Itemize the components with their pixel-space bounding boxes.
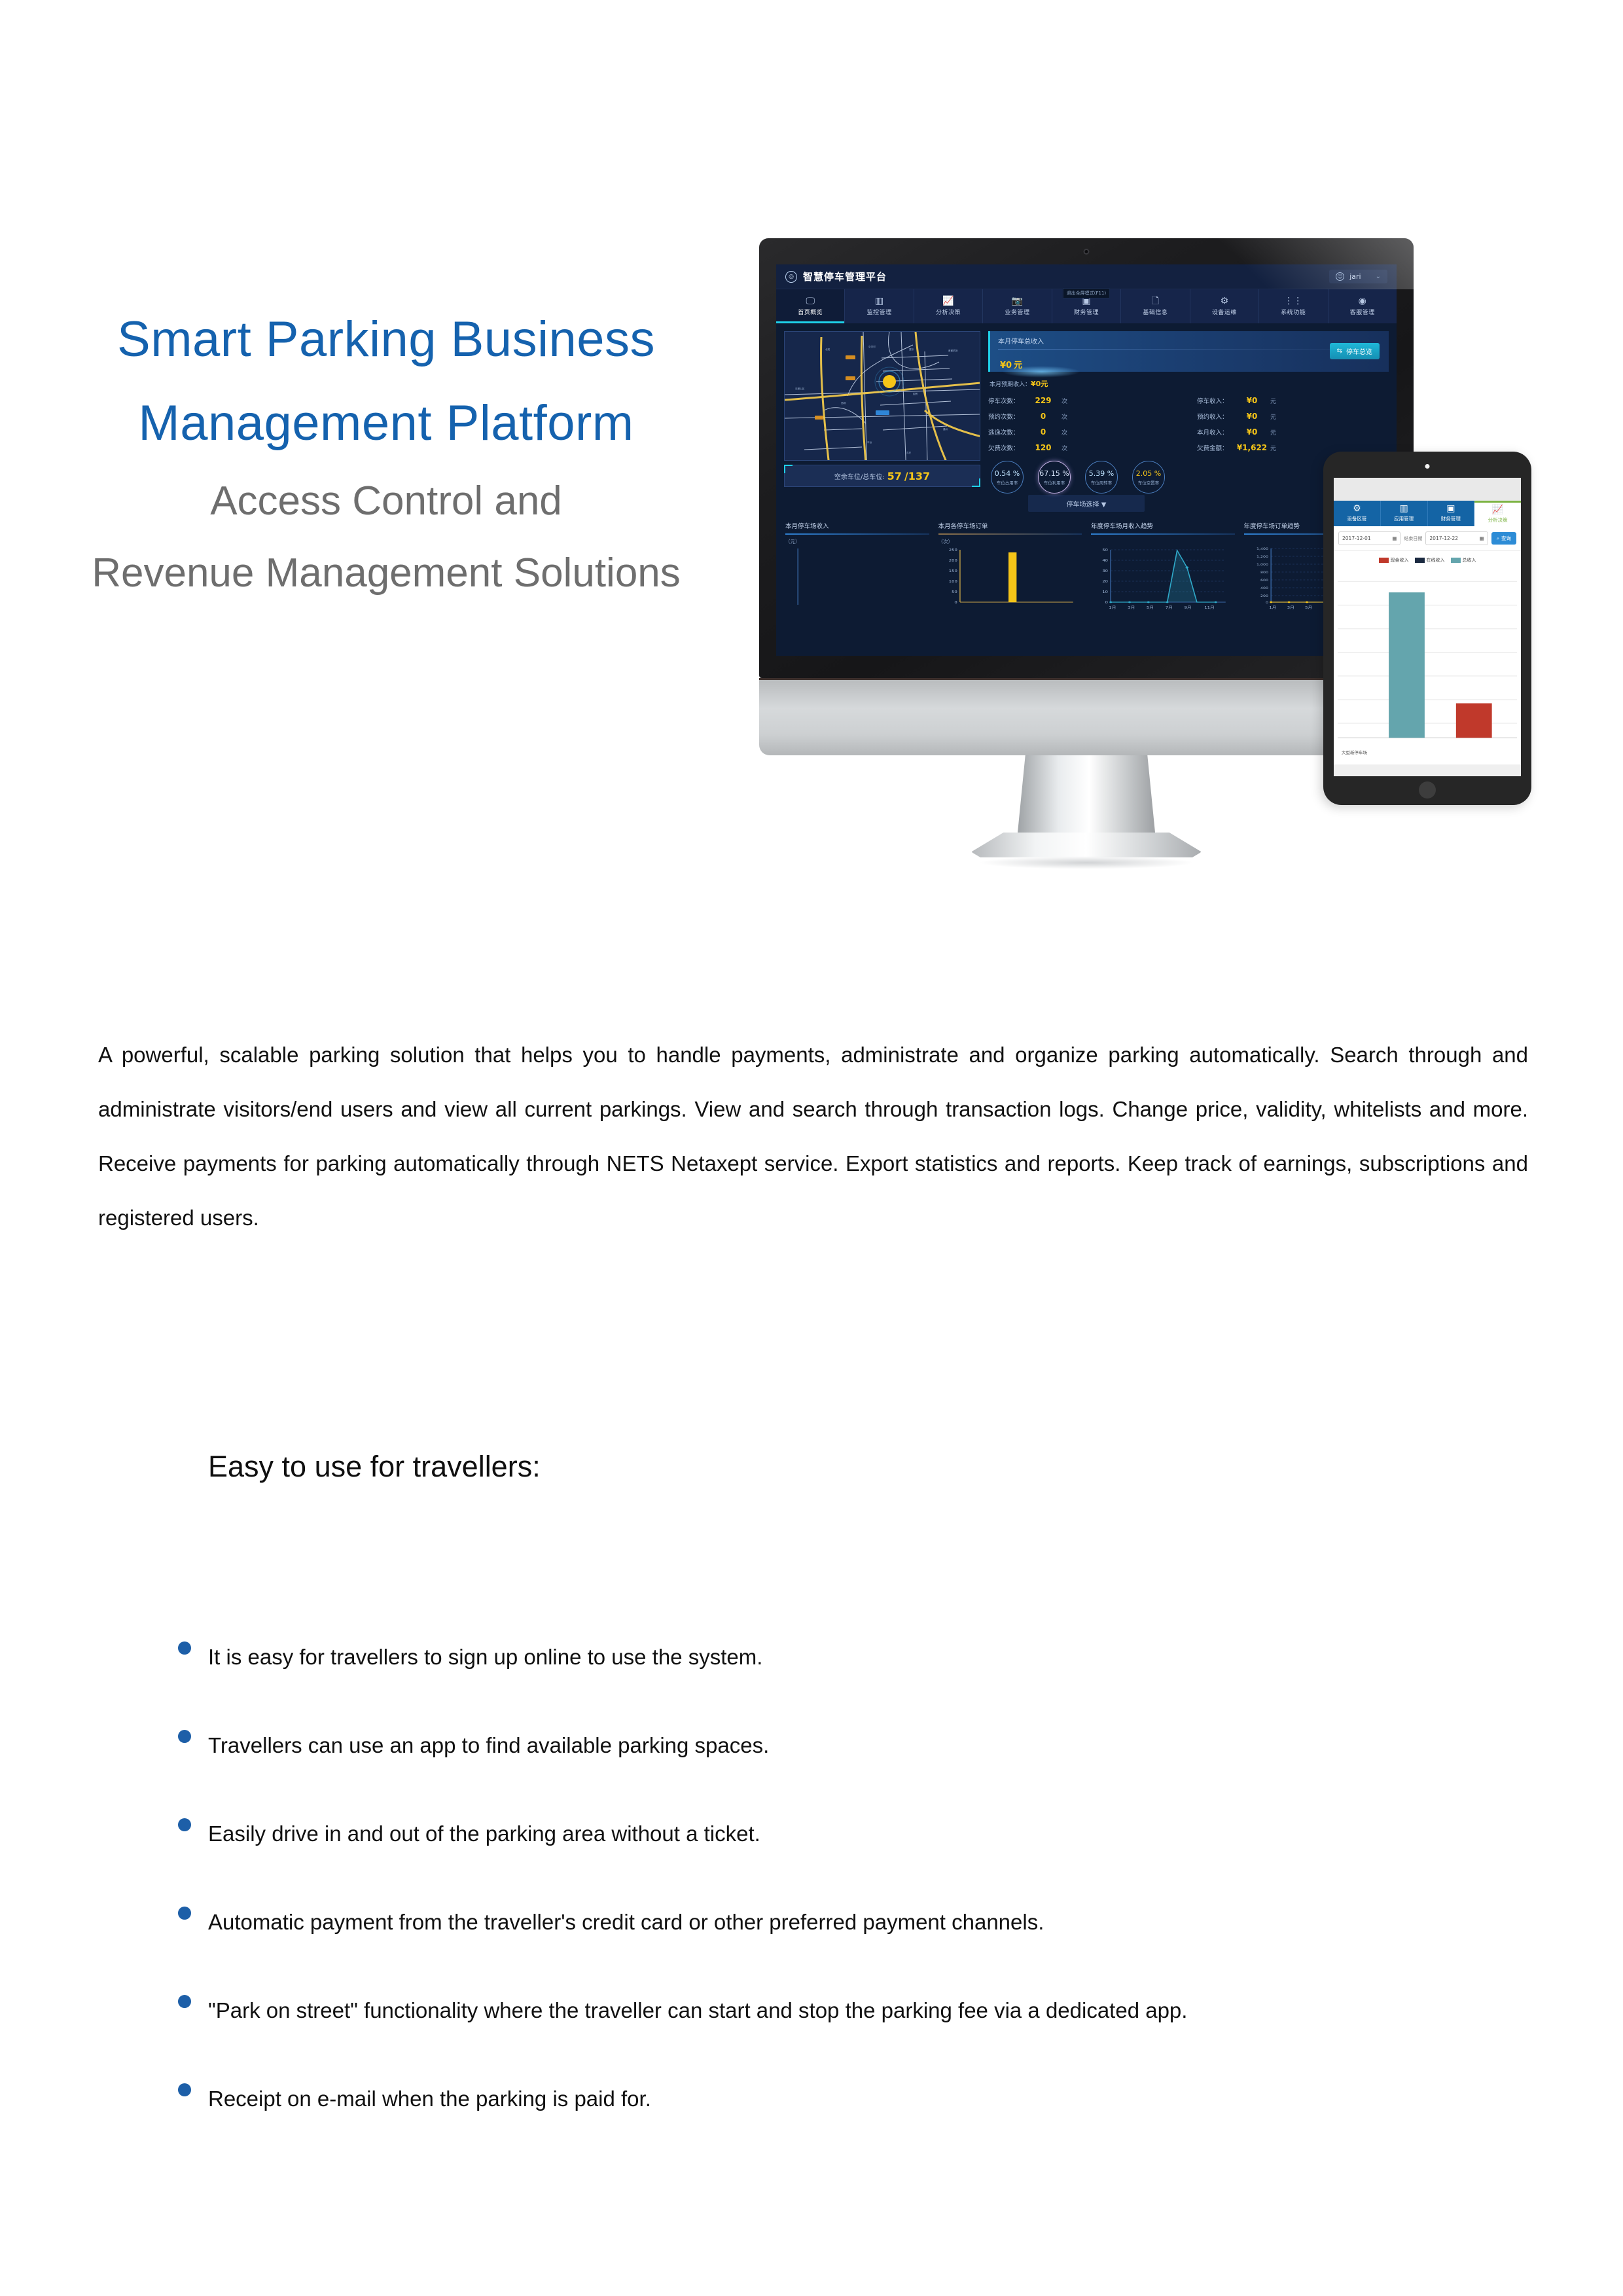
nav-item-monitoring[interactable]: ▥ 监控管理 [845,289,914,323]
tablet-tab-device[interactable]: ⚙ 设备区管 [1334,501,1381,527]
stat-unit: 次 [1061,428,1067,437]
stat-value: 0 [1025,427,1061,437]
svg-text:3月: 3月 [1128,606,1135,610]
list-item: Easily drive in and out of the parking a… [165,1806,1487,1861]
tablet-frame: ⚙ 设备区管 ▥ 应用管理 ▣ 财务管理 📈 分析决策 [1323,452,1531,805]
tab-label: 应用管理 [1394,515,1414,522]
svg-text:西城: 西城 [841,401,846,404]
svg-text:1,200: 1,200 [1256,556,1268,559]
svg-text:50: 50 [1102,548,1108,552]
date-to-input[interactable]: 2017-12-22 ▦ [1425,531,1488,545]
bullet-dot-icon [178,2083,191,2096]
nav-item-business[interactable]: 📷 业务管理 [983,289,1052,323]
stat-row: 本月收入： ¥0 元 [1197,425,1389,439]
search-icon: ⌕ [1497,535,1499,542]
tablet-tab-analysis[interactable]: 📈 分析决策 [1474,501,1521,527]
gauge-value: 2.05 % [1136,469,1161,478]
svg-text:3月: 3月 [1287,606,1294,610]
chart-title: 本月各停车场订单 [938,521,1082,530]
gauge-utilization: 67.15 % 车位利用率 [1038,461,1071,493]
svg-text:首都机场: 首都机场 [948,349,958,352]
svg-text:600: 600 [1260,579,1269,583]
stat-unit: 次 [1061,444,1067,452]
stat-value: 229 [1025,396,1061,405]
dashboard-body: 北苑中关村 望京首都机场 石景山区西城 国贸通州 丰台亦庄 空余车位/总车位: … [776,323,1397,495]
tablet-tab-bar: ⚙ 设备区管 ▥ 应用管理 ▣ 财务管理 📈 分析决策 [1334,501,1521,527]
legend-swatch [1379,558,1389,563]
bullet-dot-icon [178,1641,191,1655]
date-to-value: 2017-12-22 [1429,535,1458,541]
nav-label: 首页概览 [798,308,823,316]
stat-key: 本月收入： [1197,427,1234,437]
stat-key: 预约次数： [988,412,1025,421]
tablet-tab-finance[interactable]: ▣ 财务管理 [1428,501,1475,527]
stat-unit: 元 [1270,444,1276,452]
page-title-line1: Smart Parking Business [52,298,720,382]
trend-icon: 📈 [1492,505,1503,514]
svg-text:20: 20 [1102,580,1108,584]
lot-selector-dropdown[interactable]: 停车场选择 ▼ [1028,495,1145,512]
gauge-label: 车位空置率 [1138,479,1160,486]
monitor-bezel: ◎ 智慧停车管理平台 ☺ jari ⌄ 🖵 首页概览 ▥ [759,238,1414,678]
gauge-vacancy: 2.05 % 车位空置率 [1132,461,1165,493]
svg-text:中关村: 中关村 [868,345,876,348]
legend-item[interactable]: 在线收入 [1415,557,1445,564]
svg-text:1,400: 1,400 [1256,548,1268,551]
date-from-value: 2017-12-01 [1342,535,1371,541]
svg-text:250: 250 [948,548,957,552]
chart-monthly-revenue: 本月停车场收入 （元） [785,521,929,613]
gauge-turnover: 5.39 % 车位周转率 [1085,461,1118,493]
stat-value: ¥0 [1234,412,1270,421]
monitor-camera-icon [1084,249,1090,255]
gauge-label: 车位利用率 [1044,479,1065,486]
monitor-stand-base [971,833,1202,857]
list-item-text: Automatic payment from the traveller's c… [208,1895,1487,1949]
list-item: Automatic payment from the traveller's c… [165,1895,1487,1949]
nav-item-analysis[interactable]: 📈 分析决策 [914,289,983,323]
bullet-dot-icon [178,1730,191,1743]
svg-text:5月: 5月 [1305,606,1312,610]
glow-decoration [1002,366,1080,378]
chart-legend: 现金收入 在线收入 总收入 [1334,551,1521,566]
calendar-icon[interactable]: ▦ [1480,535,1484,541]
stat-value: 0 [1025,412,1061,421]
gauge-occupancy: 0.54 % 车位占用率 [991,461,1024,493]
chevron-down-icon[interactable]: ⌄ [1376,273,1381,280]
svg-text:0: 0 [1266,601,1269,605]
wallet-icon: ▣ [1446,504,1455,513]
date-separator-label: 结束日期 [1404,535,1422,542]
gear-icon: ⚙ [1221,296,1229,306]
stat-value: ¥0 [1234,396,1270,405]
tablet-bar-chart: 大型新停车场 [1334,566,1521,764]
search-button[interactable]: ⌕ 查询 [1491,532,1516,545]
stat-row: 停车收入： ¥0 元 [1197,393,1389,408]
nav-label: 客服管理 [1350,308,1375,316]
svg-text:100: 100 [948,580,957,584]
svg-text:40: 40 [1102,559,1108,563]
list-item: "Park on street" functionality where the… [165,1983,1487,2037]
svg-text:10: 10 [1102,590,1108,594]
nav-label: 监控管理 [867,308,892,316]
chart-x-label: 大型新停车场 [1342,749,1367,755]
nav-label: 基础信息 [1143,308,1168,316]
svg-text:1,000: 1,000 [1256,564,1268,567]
stat-row: 停车次数： 229 次 [988,393,1180,408]
dashboard-nav: 🖵 首页概览 ▥ 监控管理 📈 分析决策 📷 业务管理 [776,289,1397,323]
tablet-camera-icon [1425,464,1430,469]
fullscreen-tooltip: 退出全屏模式(F11) [1063,288,1110,298]
trend-icon: 📈 [942,296,954,306]
section-heading: Easy to use for travellers: [208,1450,541,1484]
svg-text:1月: 1月 [1109,606,1116,610]
svg-text:800: 800 [1260,571,1269,575]
legend-label: 在线收入 [1427,557,1445,564]
tablet-tab-application[interactable]: ▥ 应用管理 [1381,501,1428,527]
parking-overview-button[interactable]: ⇆ 停车总览 [1330,343,1380,359]
stat-value: ¥1,622 [1234,443,1270,452]
svg-text:石景山区: 石景山区 [795,387,805,390]
stat-unit: 元 [1270,397,1276,405]
tablet-screen: ⚙ 设备区管 ▥ 应用管理 ▣ 财务管理 📈 分析决策 [1334,478,1521,776]
svg-text:亦庄: 亦庄 [906,451,912,454]
user-name: jari [1349,272,1361,281]
expected-value: ¥0元 [1031,380,1048,388]
nav-label: 系统功能 [1281,308,1306,316]
gauge-label: 车位占用率 [997,479,1018,486]
svg-text:200: 200 [948,559,957,563]
svg-text:30: 30 [1102,569,1108,573]
nav-item-basic-info[interactable]: 🗋 基础信息 [1121,289,1190,323]
app-logo-icon: ◎ [785,271,797,283]
svg-text:9月: 9月 [1185,606,1192,610]
title-block: Smart Parking Business Management Platfo… [52,298,720,609]
bullet-dot-icon [178,1818,191,1831]
gauge-value: 67.15 % [1039,469,1069,478]
map-column: 北苑中关村 望京首都机场 石景山区西城 国贸通州 丰台亦庄 空余车位/总车位: … [784,331,980,487]
map-graphic: 北苑中关村 望京首都机场 石景山区西城 国贸通州 丰台亦庄 [785,332,980,461]
dashboard-screen: ◎ 智慧停车管理平台 ☺ jari ⌄ 🖵 首页概览 ▥ [776,264,1397,656]
page-subtitle-line1: Access Control and [52,465,720,537]
revenue-banner: 本月停车总收入 ¥0元 ⇆ 停车总览 [988,331,1389,372]
nav-item-finance[interactable]: 退出全屏模式(F11) ▣ 财务管理 [1052,289,1121,323]
nav-label: 财务管理 [1074,308,1099,316]
dashboard-charts: 本月停车场收入 （元） 本月各停车场订单 （次） [776,512,1397,613]
list-item: It is easy for travellers to sign up onl… [165,1630,1487,1684]
nav-item-system[interactable]: ⋮⋮ 系统功能 [1259,289,1328,323]
stats-grid: 停车次数： 229 次 停车收入： ¥0 元 预约次数： [988,393,1389,455]
stat-unit: 次 [1061,397,1067,405]
list-item: Travellers can use an app to find availa… [165,1718,1487,1772]
bar-chart-icon: ▥ [875,296,883,306]
svg-text:通州: 通州 [943,427,948,431]
nav-label: 业务管理 [1005,308,1030,316]
chart-yearly-revenue-trend: 年度停车场月收入趋势 [1091,521,1235,613]
monitor-chin [759,678,1414,755]
bar-chart-icon: ▥ [1400,504,1408,513]
stat-row: 预约次数： 0 次 [988,409,1180,423]
chart-svg: 250200 150100 500 [938,539,1082,613]
svg-text:北苑: 北苑 [825,348,830,351]
gear-icon: ⚙ [1353,504,1361,513]
city-map[interactable]: 北苑中关村 望京首都机场 石景山区西城 国贸通州 丰台亦庄 [784,331,980,461]
intro-paragraph: A powerful, scalable parking solution th… [98,1028,1528,1245]
stat-row: 欠费次数： 120 次 [988,440,1180,455]
swap-icon: ⇆ [1337,348,1342,355]
revenue-label: 本月停车总收入 [998,336,1381,346]
svg-text:望京: 望京 [909,348,914,351]
parking-spaces-summary: 空余车位/总车位: 57 /137 [784,465,980,487]
calendar-icon[interactable]: ▦ [1392,535,1397,541]
monitor-stand-neck [1017,755,1156,839]
divider [785,533,929,535]
date-from-input[interactable]: 2017-12-01 ▦ [1338,531,1400,545]
spaces-label: 空余车位/总车位: [834,471,885,481]
stat-unit: 元 [1270,412,1276,421]
hero-section: Smart Parking Business Management Platfo… [0,0,1623,890]
svg-text:丰台: 丰台 [867,440,872,444]
page-subtitle-line2: Revenue Management Solutions [52,537,720,609]
stat-value: ¥0 [1234,427,1270,437]
legend-swatch [1415,558,1425,563]
stat-key: 停车收入： [1197,396,1234,405]
tab-label: 财务管理 [1441,515,1461,522]
stat-row: 预约收入： ¥0 元 [1197,409,1389,423]
legend-label: 现金收入 [1391,557,1409,564]
dashboard-header: ◎ 智慧停车管理平台 ☺ jari ⌄ [776,264,1397,289]
gauge-label: 车位周转率 [1091,479,1113,486]
stat-key: 欠费次数： [988,443,1025,452]
svg-text:0: 0 [954,601,957,605]
legend-swatch [1451,558,1461,563]
stat-key: 停车次数： [988,396,1025,405]
chart-title: 年度停车场月收入趋势 [1091,521,1235,530]
chart-plot: （次） 250200 150100 500 [938,539,1082,613]
svg-text:国贸: 国贸 [913,392,918,395]
tablet-mockup: ⚙ 设备区管 ▥ 应用管理 ▣ 财务管理 📈 分析决策 [1323,452,1531,805]
desktop-monitor-mockup: ◎ 智慧停车管理平台 ☺ jari ⌄ 🖵 首页概览 ▥ [759,238,1414,723]
app-title: 智慧停车管理平台 [803,270,887,283]
stat-value: 120 [1025,443,1061,452]
chart-plot: 5040 3020 100 [1091,539,1235,613]
spaces-total-value: /137 [904,470,930,482]
divider [938,533,1082,535]
nav-label: 设备运维 [1212,308,1237,316]
svg-text:0: 0 [1105,601,1109,605]
stat-key: 欠费金额： [1197,443,1234,452]
tab-label: 设备区管 [1347,515,1366,522]
parking-overview-label: 停车总览 [1346,346,1372,356]
user-avatar-icon: ☺ [1336,272,1344,281]
search-button-label: 查询 [1501,535,1511,542]
tab-label: 分析决策 [1488,516,1508,524]
spaces-free-value: 57 [887,470,902,482]
nav-item-support[interactable]: ◉ 客服管理 [1329,289,1397,323]
bullet-dot-icon [178,1907,191,1920]
tablet-home-button[interactable] [1419,781,1436,798]
legend-item[interactable]: 现金收入 [1379,557,1409,564]
monitor-icon: 🖵 [806,296,815,306]
chart-svg [1338,569,1517,764]
stat-unit: 元 [1270,428,1276,437]
feature-bullet-list: It is easy for travellers to sign up onl… [165,1630,1487,2160]
nav-item-home[interactable]: 🖵 首页概览 [776,289,845,323]
list-item-text: "Park on street" functionality where the… [208,1983,1487,2037]
page-title-line2: Management Platform [52,382,720,465]
divider [998,349,1381,350]
svg-text:7月: 7月 [1166,606,1173,610]
svg-text:400: 400 [1260,587,1269,590]
nav-label: 分析决策 [936,308,961,316]
sliders-icon: ⋮⋮ [1284,296,1302,306]
svg-text:11月: 11月 [1204,606,1215,610]
divider [1091,533,1235,535]
monitor-shadow [978,856,1194,869]
list-item-text: Receipt on e-mail when the parking is pa… [208,2072,1487,2126]
chart-svg: 5040 3020 100 [1091,539,1235,613]
svg-text:200: 200 [1260,595,1269,598]
svg-text:50: 50 [952,590,957,594]
gauge-value: 5.39 % [1089,469,1114,478]
user-menu[interactable]: ☺ jari ⌄ [1329,270,1387,283]
stat-key: 预约收入： [1197,412,1234,421]
chart-unit: （元） [785,538,800,545]
expected-revenue: 本月预期收入：¥0元 [990,378,1389,389]
list-item-text: Easily drive in and out of the parking a… [208,1806,1487,1861]
list-item: Receipt on e-mail when the parking is pa… [165,2072,1487,2126]
legend-label: 总收入 [1463,557,1476,564]
list-item-text: It is easy for travellers to sign up onl… [208,1630,1487,1684]
chart-title: 本月停车场收入 [785,521,929,530]
chart-svg [785,539,929,613]
tablet-app-header [1334,478,1521,501]
stat-row: 逃逸次数： 0 次 [988,425,1180,439]
document-icon: 🗋 [1152,296,1159,306]
headset-icon: ◉ [1359,296,1366,306]
bullet-dot-icon [178,1995,191,2008]
list-item-text: Travellers can use an app to find availa… [208,1718,1487,1772]
gauge-value: 0.54 % [995,469,1020,478]
nav-item-device-ops[interactable]: ⚙ 设备运维 [1190,289,1259,323]
svg-text:5月: 5月 [1147,606,1154,610]
svg-text:150: 150 [948,569,957,573]
chart-plot: （元） [785,539,929,613]
expected-label: 本月预期收入： [990,382,1031,388]
legend-item[interactable]: 总收入 [1451,557,1476,564]
tablet-filter-bar: 2017-12-01 ▦ 结束日期 2017-12-22 ▦ ⌕ 查询 [1334,526,1521,551]
chart-unit: （次） [938,538,954,545]
svg-text:1月: 1月 [1269,606,1276,610]
chart-monthly-orders: 本月各停车场订单 （次） 250200 [938,521,1082,613]
stat-unit: 次 [1061,412,1067,421]
camera-icon: 📷 [1012,296,1023,306]
stat-key: 逃逸次数： [988,427,1025,437]
